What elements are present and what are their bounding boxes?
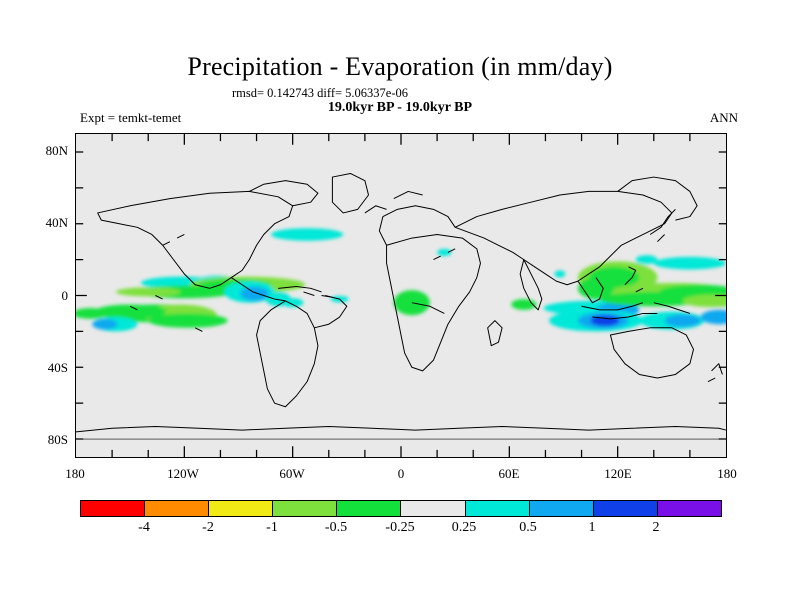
ytick-label-40s: 40S: [22, 360, 68, 376]
colorbar-swatch-5: [401, 501, 465, 516]
colorbar-swatch-9: [658, 501, 721, 516]
colorbar-tick-2: -1: [247, 520, 297, 536]
map-svg: [76, 134, 726, 457]
colorbar-tick-3: -0.5: [311, 520, 361, 536]
colorbar-tick-4: -0.25: [375, 520, 425, 536]
colorbar-tick-0: -4: [119, 520, 169, 536]
colorbar-tick-7: 1: [567, 520, 617, 536]
season-label: ANN: [710, 110, 738, 126]
colorbar-swatch-8: [594, 501, 658, 516]
xtick-label-180e: 180: [697, 466, 757, 482]
colorbar-swatch-6: [466, 501, 530, 516]
ytick-label-0: 0: [22, 288, 68, 304]
colorbar-swatch-0: [81, 501, 145, 516]
ytick-label-40n: 40N: [22, 215, 68, 231]
xtick-label-180w: 180: [45, 466, 105, 482]
xtick-label-60w: 60W: [262, 466, 322, 482]
colorbar-tick-6: 0.5: [503, 520, 553, 536]
colorbar-swatch-4: [337, 501, 401, 516]
experiment-label: Expt = temkt-temet: [80, 110, 181, 126]
figure-root: Precipitation - Evaporation (in mm/day) …: [0, 0, 800, 600]
xtick-label-120e: 120E: [588, 466, 648, 482]
colorbar-tick-1: -2: [183, 520, 233, 536]
xtick-label-120w: 120W: [153, 466, 213, 482]
statistics-text: rmsd= 0.142743 diff= 5.06337e-06: [0, 86, 640, 101]
colorbar-swatch-7: [530, 501, 594, 516]
colorbar-tick-8: 2: [631, 520, 681, 536]
colorbar-tick-5: 0.25: [439, 520, 489, 536]
colorbar-swatch-3: [273, 501, 337, 516]
colorbar-swatch-1: [145, 501, 209, 516]
map-plot-area: [75, 133, 727, 458]
xtick-label-60e: 60E: [479, 466, 539, 482]
colorbar-swatch-2: [209, 501, 273, 516]
ytick-label-80s: 80S: [22, 432, 68, 448]
figure-title: Precipitation - Evaporation (in mm/day): [0, 52, 800, 82]
ytick-label-80n: 80N: [22, 143, 68, 159]
colorbar: [80, 500, 722, 517]
xtick-label-0: 0: [371, 466, 431, 482]
